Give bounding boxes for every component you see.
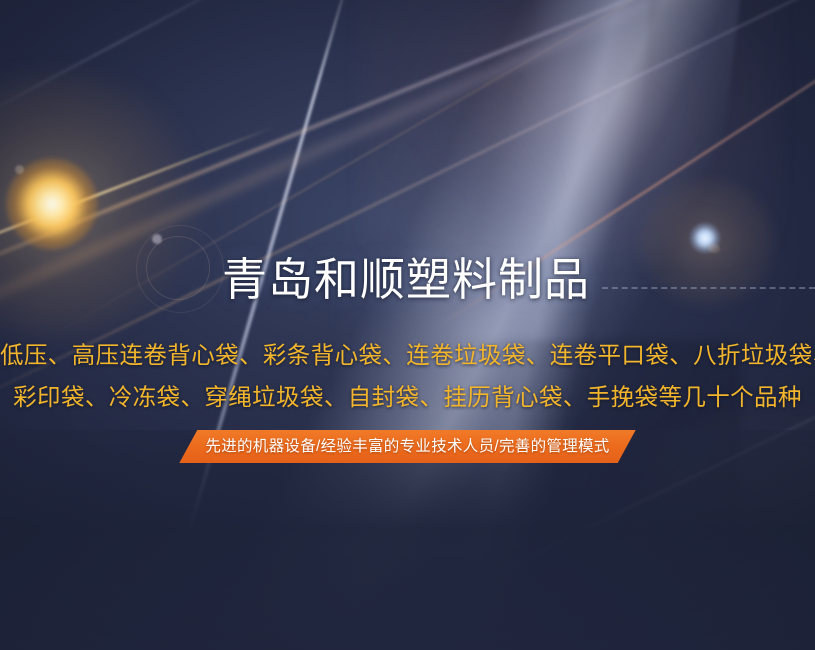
- promotional-banner: 青岛和顺塑料制品 低压、高压连卷背心袋、彩条背心袋、连卷垃圾袋、连卷平口袋、八折…: [0, 0, 815, 650]
- tagline-banner: 先进的机器设备/经验丰富的专业技术人员/完善的管理模式: [179, 430, 635, 463]
- title-dashed-rule: [602, 287, 815, 289]
- banner-content: 青岛和顺塑料制品 低压、高压连卷背心袋、彩条背心袋、连卷垃圾袋、连卷平口袋、八折…: [0, 0, 815, 650]
- product-list: 低压、高压连卷背心袋、彩条背心袋、连卷垃圾袋、连卷平口袋、八折垃圾袋、 彩印袋、…: [0, 334, 815, 418]
- tagline-text: 先进的机器设备/经验丰富的专业技术人员/完善的管理模式: [205, 439, 609, 455]
- company-title: 青岛和顺塑料制品: [222, 257, 590, 302]
- product-line-1: 低压、高压连卷背心袋、彩条背心袋、连卷垃圾袋、连卷平口袋、八折垃圾袋、: [0, 334, 815, 376]
- title-row: 青岛和顺塑料制品: [0, 248, 815, 310]
- tagline-wrapper: 先进的机器设备/经验丰富的专业技术人员/完善的管理模式: [0, 430, 815, 463]
- product-line-2: 彩印袋、冷冻袋、穿绳垃圾袋、自封袋、挂历背心袋、手挽袋等几十个品种: [0, 376, 815, 418]
